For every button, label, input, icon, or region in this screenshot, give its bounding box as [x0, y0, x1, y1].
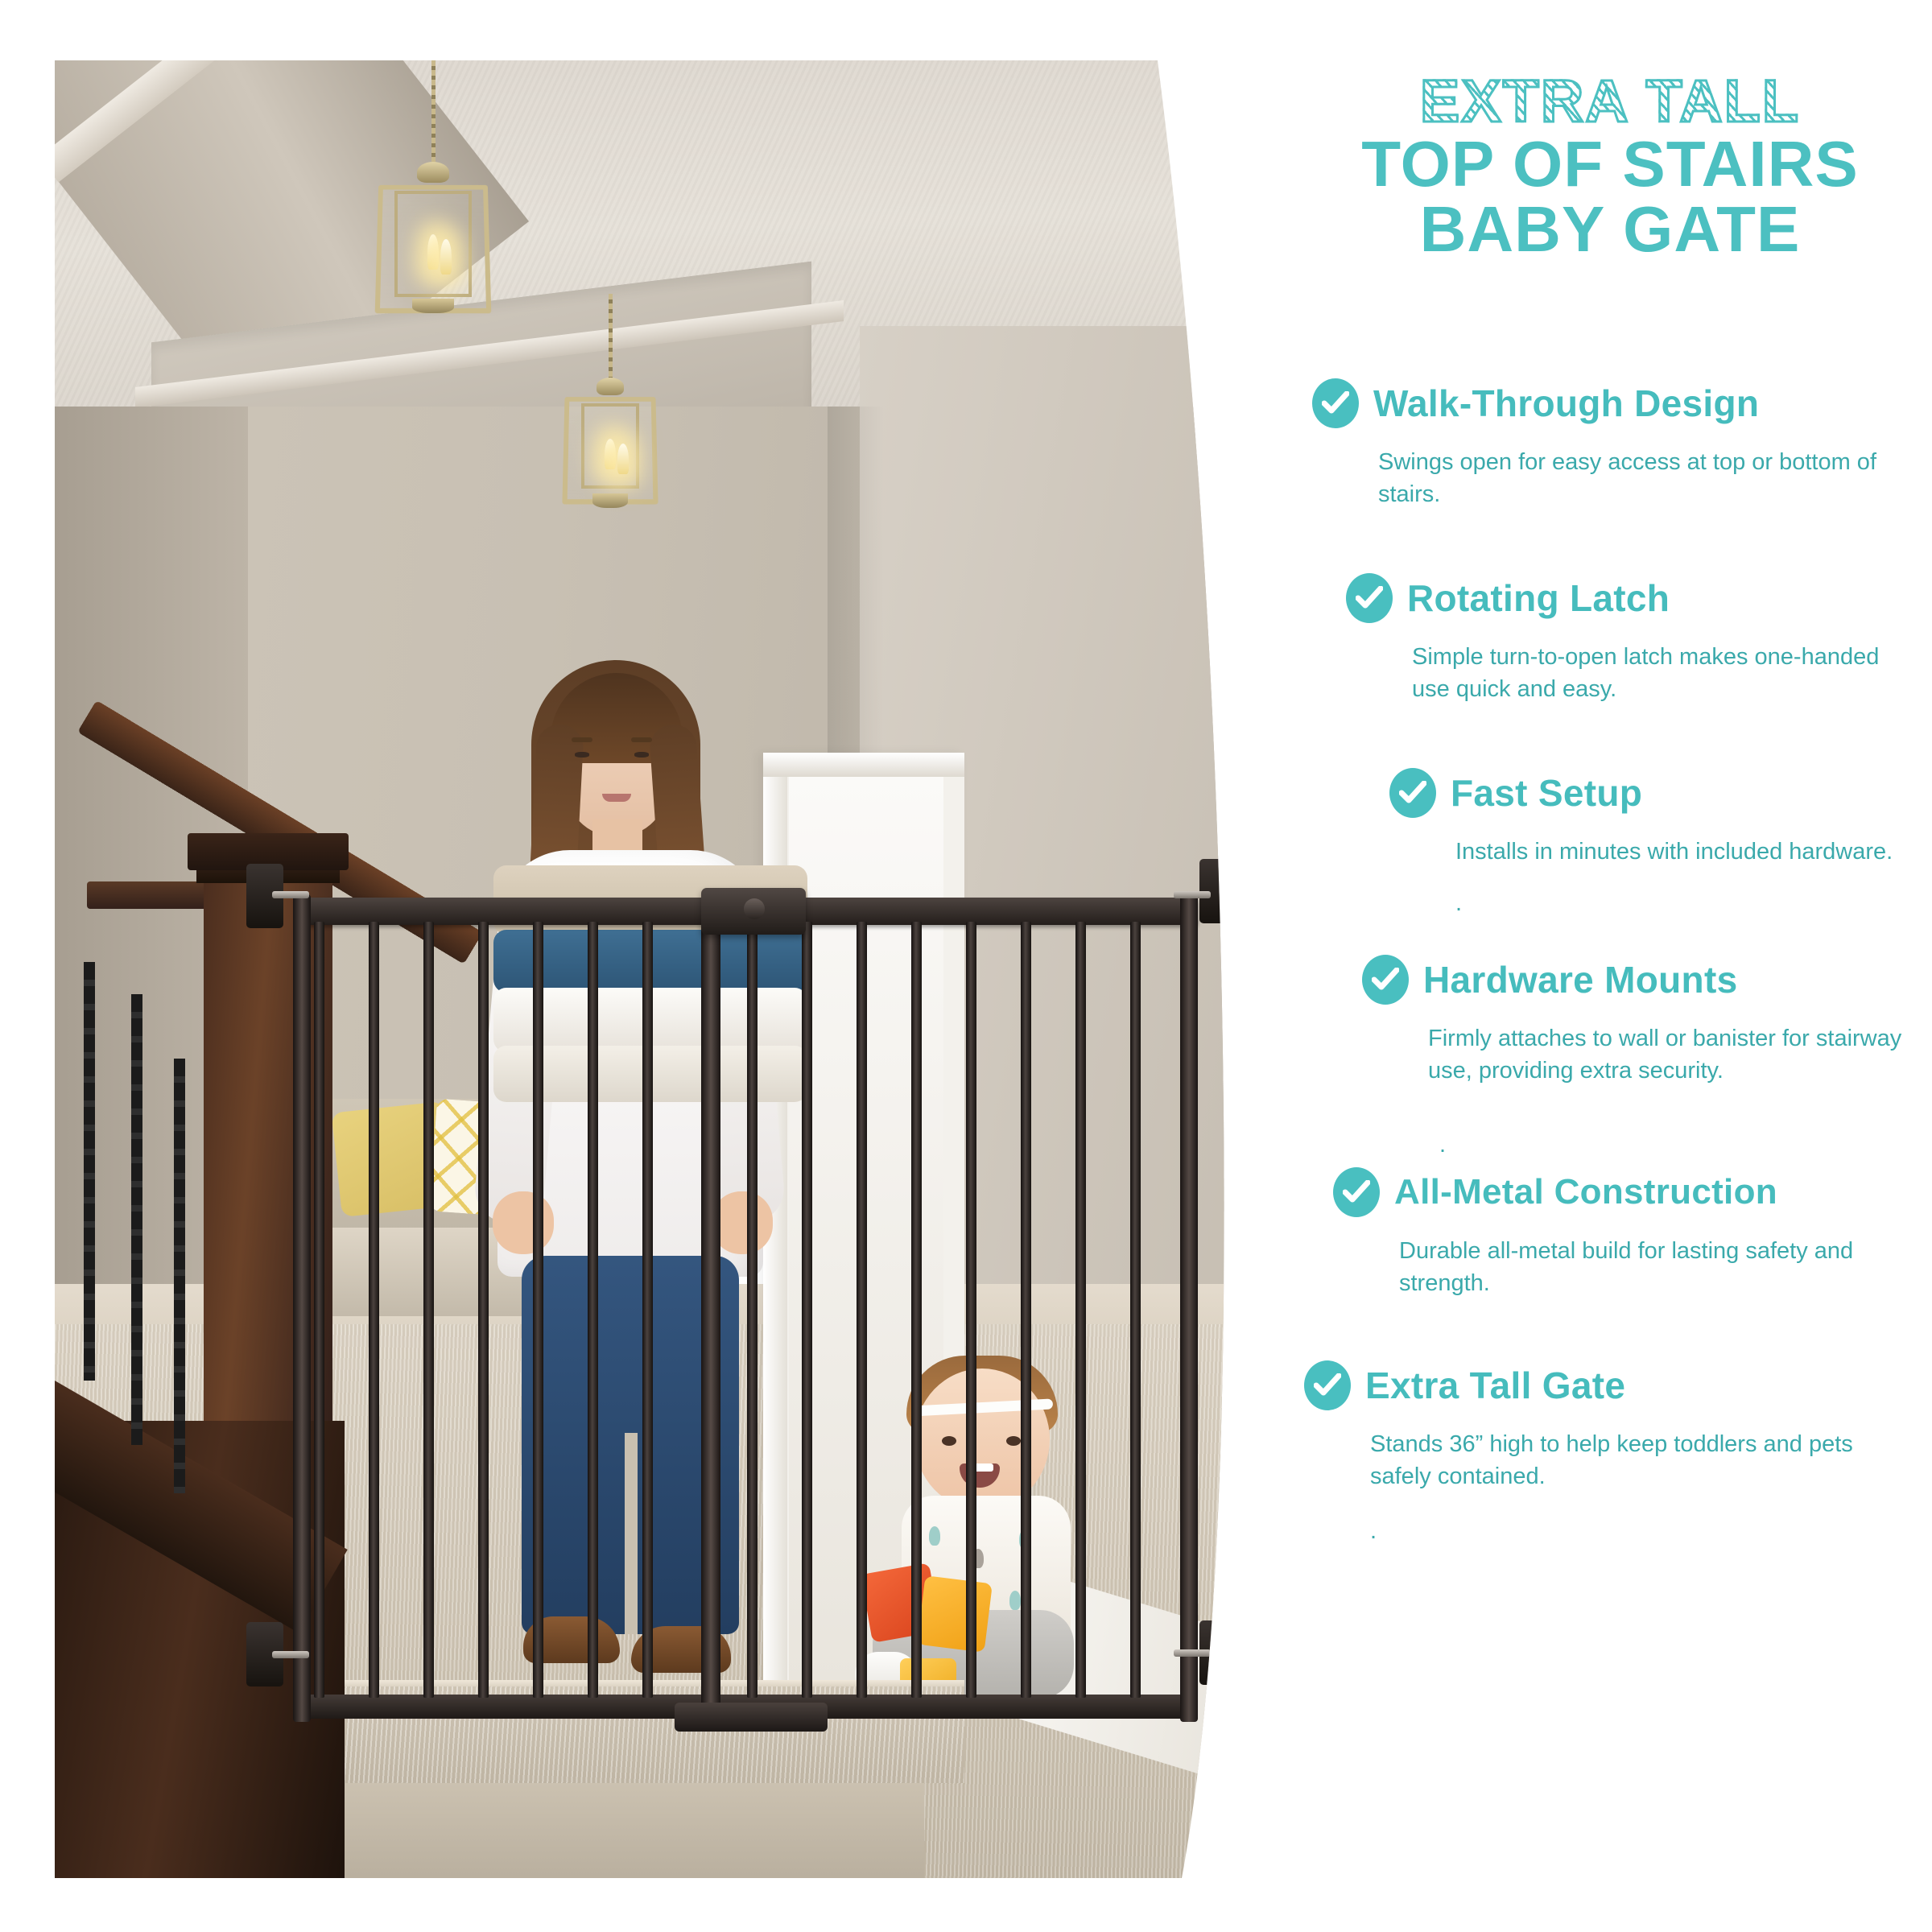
pendant-canopy: [417, 162, 449, 183]
feature-list: Walk-Through Design Swings open for easy…: [1304, 378, 1916, 1558]
woman-mouth: [602, 794, 631, 802]
gate-bar: [642, 922, 653, 1698]
pendant-canopy: [597, 378, 624, 395]
pendant-chain: [609, 294, 613, 382]
gate-mount-spindle: [1174, 1649, 1211, 1657]
check-circle-icon: [1362, 955, 1409, 1005]
product-title: EXTRA TALL TOP OF STAIRS BABY GATE: [1304, 72, 1916, 262]
feature-description: Firmly attaches to wall or banister for …: [1428, 1022, 1916, 1087]
feature-trailing-dot: .: [1370, 1520, 1916, 1547]
gate-center-post: [701, 906, 720, 1722]
feature-trailing-dot: .: [1455, 892, 1916, 919]
pendant-bulb-2: [440, 239, 452, 275]
gate-bar: [1075, 922, 1086, 1698]
gate-bar: [478, 922, 489, 1698]
gate-mount-spindle: [272, 1651, 309, 1658]
pendant-lantern-light-1: [353, 60, 514, 398]
check-circle-icon: [1389, 768, 1436, 818]
photo-scene: [55, 60, 1246, 1878]
feature-title: Fast Setup: [1451, 771, 1642, 815]
feature-all-metal-construction: . All-Metal Construction Durable all-met…: [1304, 1133, 1916, 1299]
feature-fast-setup: Fast Setup Installs in minutes with incl…: [1304, 768, 1916, 919]
title-line-top-of-stairs: TOP OF STAIRS: [1304, 131, 1916, 197]
feature-description: Swings open for easy access at top or bo…: [1378, 446, 1916, 510]
feature-leading-dot: .: [1439, 1133, 1916, 1161]
check-circle-icon: [1312, 378, 1359, 428]
gate-bar: [1021, 922, 1031, 1698]
feature-extra-tall-gate: Extra Tall Gate Stands 36” high to help …: [1304, 1360, 1916, 1547]
gate-bar: [314, 922, 324, 1698]
feature-description: Stands 36” high to help keep toddlers an…: [1370, 1428, 1916, 1492]
gate-latch-knob-icon: [744, 898, 765, 919]
feature-heading-row: All-Metal Construction: [1333, 1167, 1916, 1217]
title-line-extra-tall: EXTRA TALL: [1304, 72, 1916, 131]
gate-mount-spindle: [1174, 891, 1211, 898]
gate-bar: [911, 922, 922, 1698]
feature-hardware-mounts: Hardware Mounts Firmly attaches to wall …: [1304, 955, 1916, 1087]
gate-bar: [747, 922, 758, 1698]
feature-title: All-Metal Construction: [1394, 1172, 1777, 1212]
pendant-bulb-1: [605, 439, 616, 469]
feature-panel: EXTRA TALL TOP OF STAIRS BABY GATE Walk-…: [1304, 0, 1916, 1932]
baluster: [84, 962, 95, 1381]
woman-brow-right: [631, 737, 652, 742]
gate-bar: [1130, 922, 1141, 1698]
gate-bar: [857, 922, 867, 1698]
gate-mount-spindle: [272, 891, 309, 898]
product-lifestyle-photo: [55, 60, 1246, 1878]
pendant-bulb-1: [427, 234, 439, 270]
baluster: [131, 994, 142, 1445]
gate-bar: [802, 922, 812, 1698]
feature-description: Simple turn-to-open latch makes one-hand…: [1412, 641, 1916, 705]
woman-eye-left: [575, 752, 589, 758]
gate-bar: [533, 922, 543, 1698]
gate-bar: [588, 922, 598, 1698]
feature-heading-row: Walk-Through Design: [1312, 378, 1916, 428]
pendant-base: [592, 493, 628, 508]
check-circle-icon: [1304, 1360, 1351, 1410]
title-line-baby-gate: BABY GATE: [1304, 196, 1916, 262]
feature-rotating-latch: Rotating Latch Simple turn-to-open latch…: [1304, 573, 1916, 705]
feature-description: Installs in minutes with included hardwa…: [1455, 836, 1916, 868]
feature-walk-through-design: Walk-Through Design Swings open for easy…: [1304, 378, 1916, 510]
feature-title: Extra Tall Gate: [1365, 1364, 1625, 1407]
feature-heading-row: Hardware Mounts: [1362, 955, 1916, 1005]
pendant-lantern-light-2: [538, 294, 683, 616]
gate-stile-left: [293, 894, 311, 1722]
gate-bar: [423, 922, 434, 1698]
check-circle-icon: [1346, 573, 1393, 623]
gate-bar: [966, 922, 976, 1698]
woman-brow-left: [572, 737, 592, 742]
gate-stile-right: [1180, 894, 1198, 1722]
feature-heading-row: Rotating Latch: [1346, 573, 1916, 623]
woman-eye-right: [634, 752, 649, 758]
feature-heading-row: Fast Setup: [1389, 768, 1916, 818]
feature-title: Hardware Mounts: [1423, 958, 1737, 1001]
feature-title: Walk-Through Design: [1373, 382, 1759, 425]
infographic-canvas: EXTRA TALL TOP OF STAIRS BABY GATE Walk-…: [0, 0, 1932, 1932]
feature-description: Durable all-metal build for lasting safe…: [1399, 1235, 1916, 1299]
baluster: [174, 1059, 185, 1493]
feature-title: Rotating Latch: [1407, 576, 1670, 620]
check-circle-icon: [1333, 1167, 1380, 1217]
gate-center-foot: [675, 1703, 828, 1732]
baby-gate: [296, 898, 1198, 1719]
gate-bar: [369, 922, 379, 1698]
pendant-chain: [431, 60, 436, 165]
feature-heading-row: Extra Tall Gate: [1304, 1360, 1916, 1410]
pendant-bulb-2: [617, 444, 629, 474]
pendant-base: [412, 299, 454, 313]
